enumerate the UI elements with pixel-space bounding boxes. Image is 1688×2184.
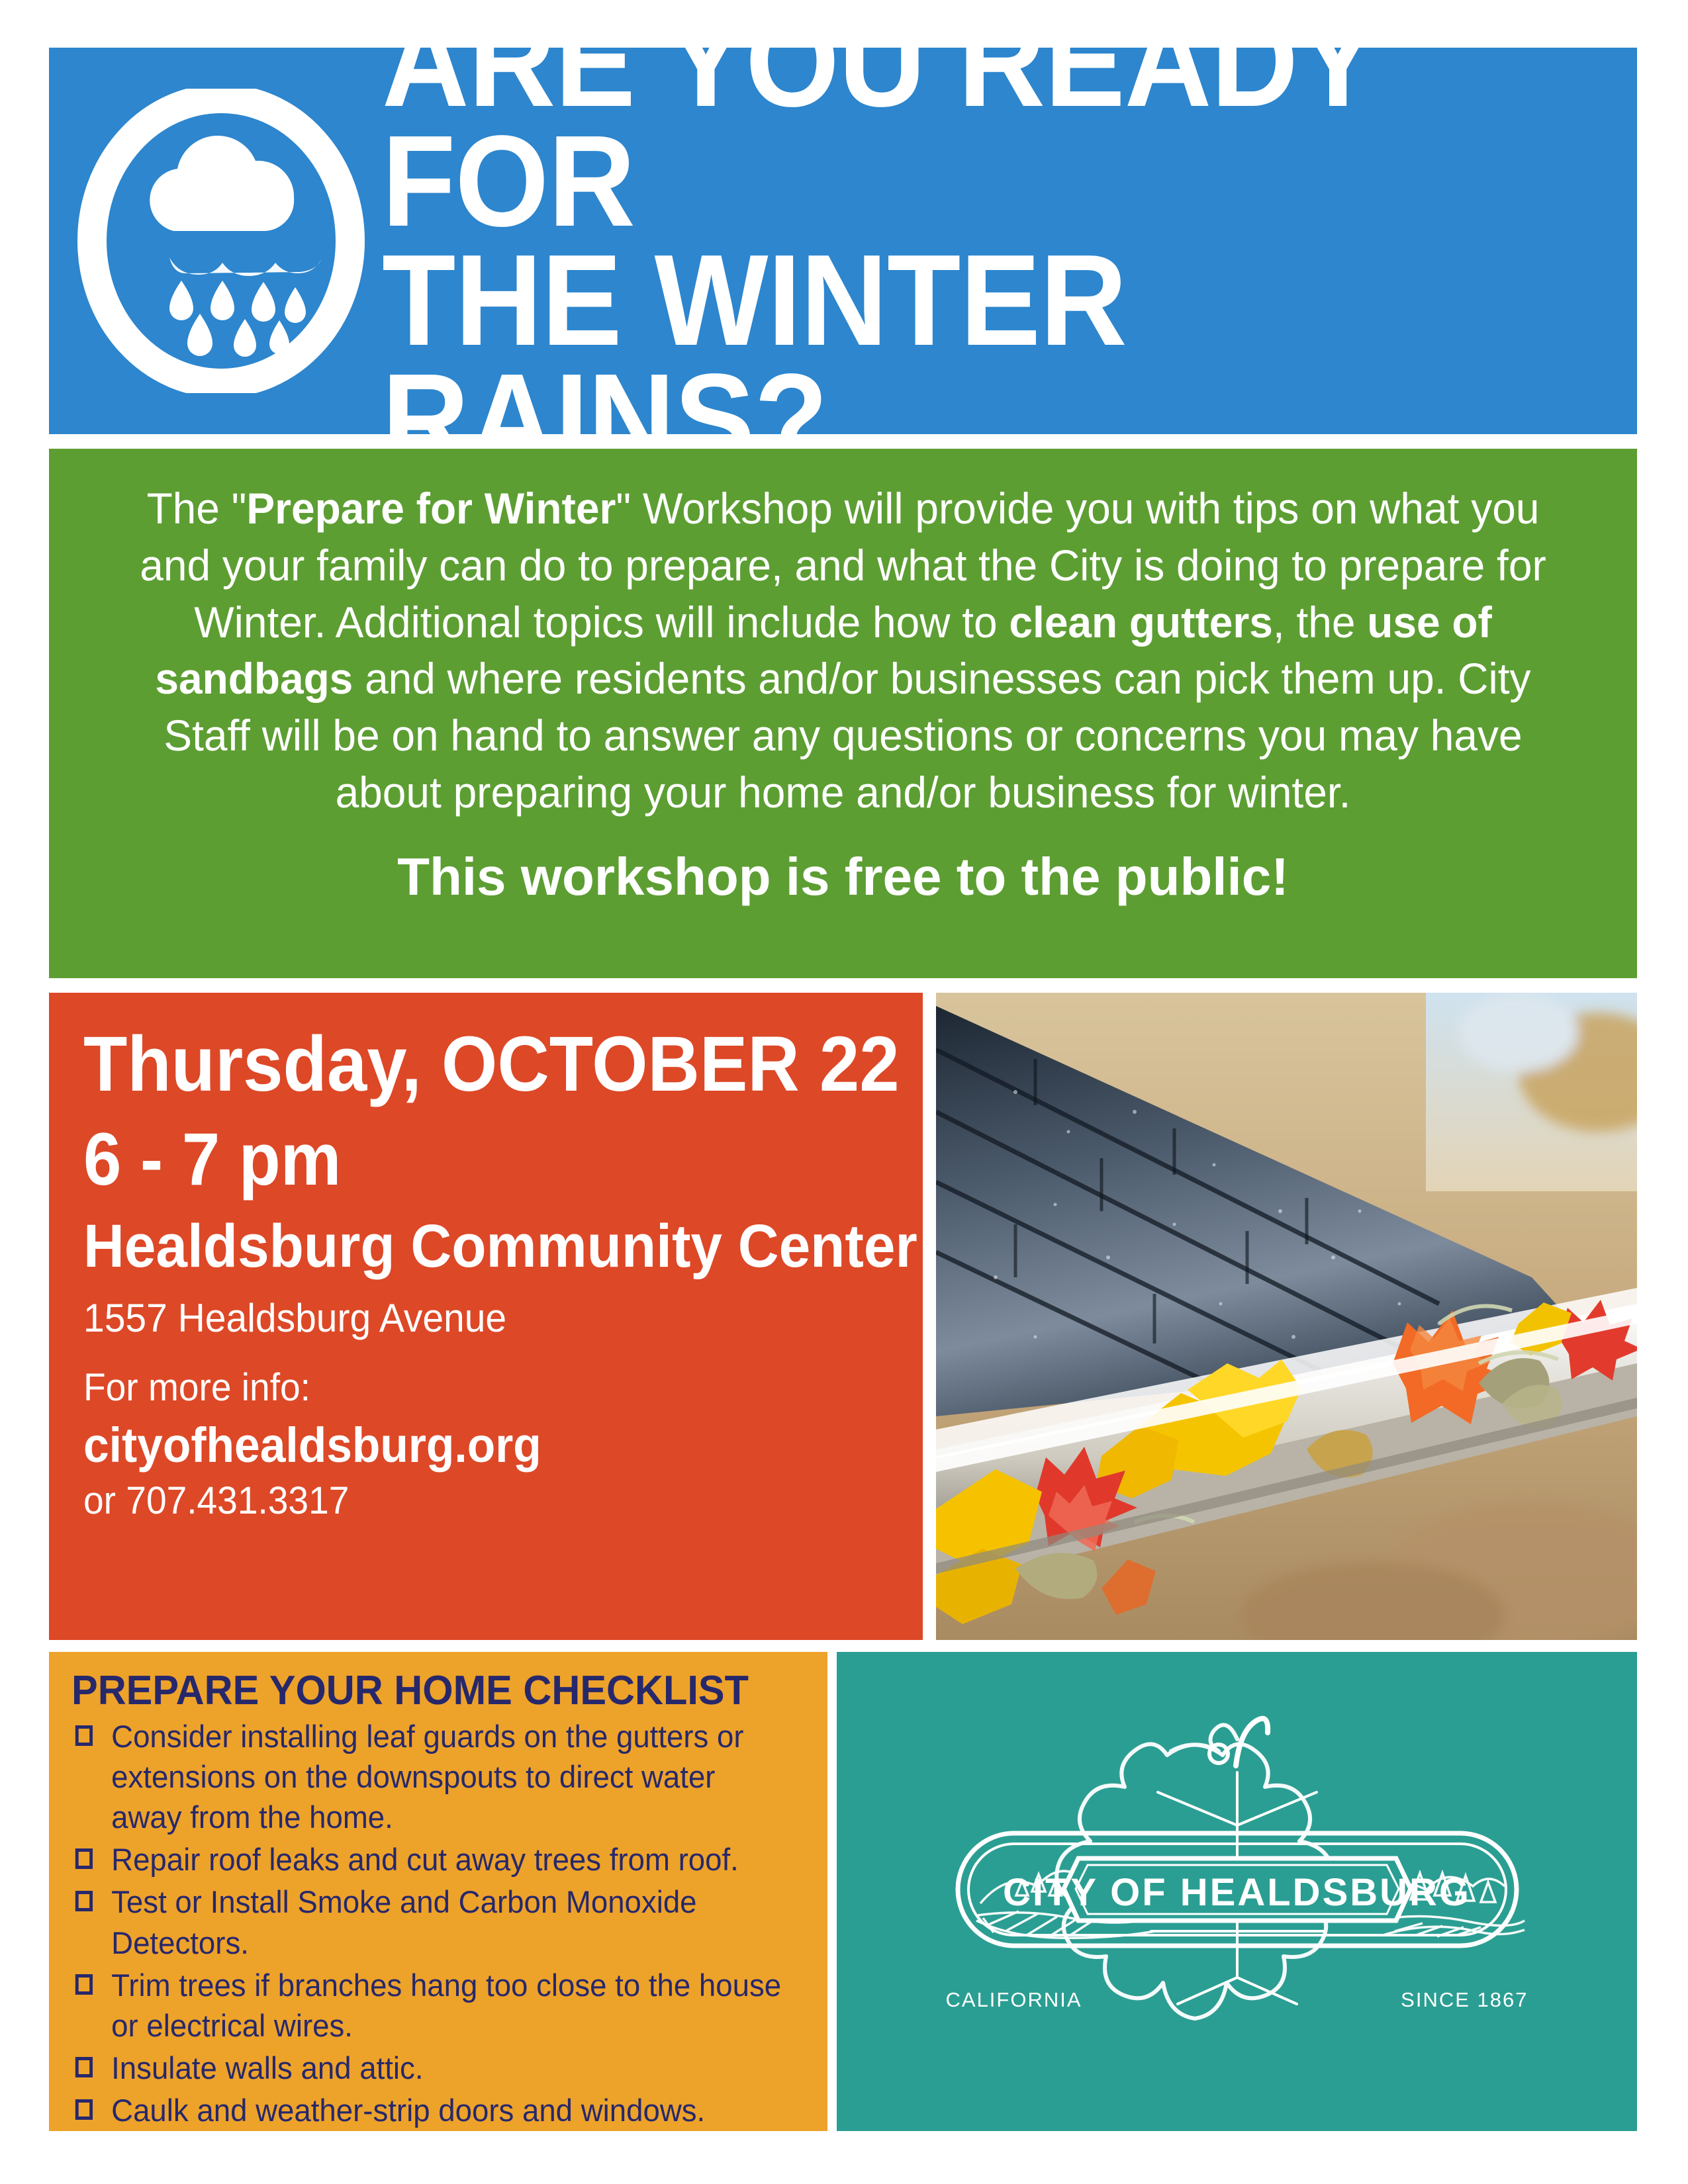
winter-rains-flyer: ARE YOU READY FOR THE WINTER RAINS? The … bbox=[0, 0, 1688, 2184]
logo-banner-text: CITY OF HEALDSBURG bbox=[919, 1870, 1555, 1915]
checkbox-icon[interactable] bbox=[75, 2057, 93, 2077]
event-venue: Healdsburg Community Center bbox=[83, 1214, 839, 1279]
city-of-healdsburg-logo: CITY OF HEALDSBURG CALIFORNIA SINCE 1867 bbox=[919, 1693, 1555, 2090]
website-link[interactable]: cityofhealdsburg.org bbox=[83, 1418, 847, 1472]
city-logo-panel: CITY OF HEALDSBURG CALIFORNIA SINCE 1867 bbox=[837, 1652, 1637, 2131]
event-day: Thursday, bbox=[83, 1021, 422, 1108]
event-address: 1557 Healdsburg Avenue bbox=[83, 1297, 856, 1340]
more-info-label: For more info: bbox=[83, 1367, 856, 1409]
home-checklist-panel: PREPARE YOUR HOME CHECKLIST Consider ins… bbox=[49, 1652, 827, 2131]
list-item[interactable]: Caulk and weather-strip doors and window… bbox=[71, 2090, 786, 2130]
list-item[interactable]: Insulate walls and attic. bbox=[71, 2048, 786, 2088]
list-item[interactable]: Consider installing leaf guards on the g… bbox=[71, 1716, 786, 1837]
checkbox-icon[interactable] bbox=[75, 1891, 93, 1911]
list-item-label: Insulate walls and attic. bbox=[111, 2050, 423, 2085]
event-details-panel: Thursday, OCTOBER 22 6 - 7 pm Healdsburg… bbox=[49, 993, 923, 1640]
header-banner: ARE YOU READY FOR THE WINTER RAINS? bbox=[49, 48, 1637, 434]
checkbox-icon[interactable] bbox=[75, 2099, 93, 2120]
list-item-label: Trim trees if branches hang too close to… bbox=[111, 1968, 781, 2043]
checkbox-icon[interactable] bbox=[75, 1848, 93, 1869]
event-time: 6 - 7 pm bbox=[83, 1120, 831, 1199]
page-title: ARE YOU READY FOR THE WINTER RAINS? bbox=[373, 48, 1548, 434]
list-item[interactable]: Repair roof leaks and cut away trees fro… bbox=[71, 1839, 786, 1880]
title-line-1: ARE YOU READY FOR bbox=[382, 48, 1376, 253]
list-item-label: Test or Install Smoke and Carbon Monoxid… bbox=[111, 1884, 696, 1960]
list-item[interactable]: Trim trees if branches hang too close to… bbox=[71, 1965, 786, 2046]
list-item-label: Caulk and weather-strip doors and window… bbox=[111, 2093, 705, 2128]
checkbox-icon[interactable] bbox=[75, 1725, 93, 1746]
event-date: Thursday, OCTOBER 22 bbox=[83, 1023, 831, 1106]
checkbox-icon[interactable] bbox=[75, 1974, 93, 1995]
list-item[interactable]: Test or Install Smoke and Carbon Monoxid… bbox=[71, 1882, 786, 1962]
description-paragraph: The "Prepare for Winter" Workshop will p… bbox=[115, 480, 1571, 821]
event-month-day: OCTOBER 22 bbox=[442, 1021, 900, 1108]
list-item-label: Repair roof leaks and cut away trees fro… bbox=[111, 1842, 739, 1877]
phone-number[interactable]: or 707.431.3317 bbox=[83, 1480, 856, 1522]
checklist-items: Consider installing leaf guards on the g… bbox=[71, 1716, 808, 2131]
checklist-title: PREPARE YOUR HOME CHECKLIST bbox=[71, 1669, 778, 1712]
free-to-public-line: This workshop is free to the public! bbox=[93, 848, 1593, 906]
rain-cloud-icon bbox=[69, 82, 373, 400]
list-item-label: Consider installing leaf guards on the g… bbox=[111, 1719, 743, 1835]
gutter-leaves-photo bbox=[936, 993, 1637, 1640]
title-line-2: THE WINTER RAINS? bbox=[382, 241, 1536, 434]
logo-caption-california: CALIFORNIA bbox=[946, 1988, 1082, 2012]
description-panel: The "Prepare for Winter" Workshop will p… bbox=[49, 449, 1637, 978]
logo-caption-since: SINCE 1867 bbox=[1401, 1988, 1528, 2012]
